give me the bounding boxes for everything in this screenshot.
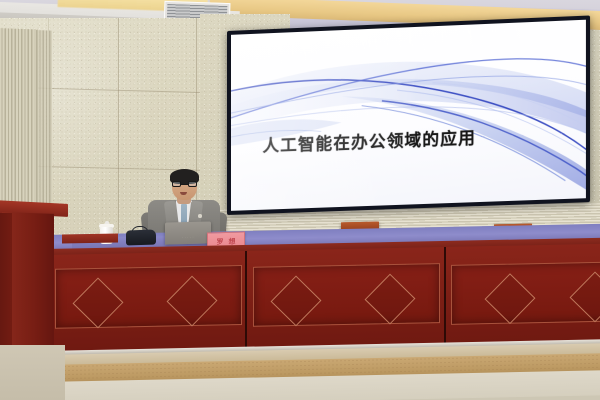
dais-panel-divider <box>245 251 247 357</box>
dais-panel-1 <box>55 265 242 329</box>
dais-panel-2 <box>253 263 440 327</box>
glasses-bridge <box>181 184 188 185</box>
conference-room-photo: 人工智能在办公领域的应用 <box>0 0 600 400</box>
screen-content: 人工智能在办公领域的应用 <box>231 20 586 211</box>
wooden-lectern-side <box>0 213 12 358</box>
wooden-lectern-secondary-top <box>62 234 118 244</box>
dais-panel-divider <box>444 247 446 353</box>
speaker-lapel-pin-icon <box>198 214 202 218</box>
diamond-inlay <box>167 276 218 327</box>
led-display-screen[interactable]: 人工智能在办公领域的应用 <box>227 15 590 215</box>
diamond-inlay <box>73 277 124 328</box>
stone-seam <box>118 18 119 268</box>
glasses-icon <box>172 181 197 187</box>
glasses-lens-right <box>188 181 197 187</box>
dais-panel-3 <box>451 261 600 324</box>
diamond-inlay <box>485 273 536 324</box>
diamond-inlay <box>365 274 416 325</box>
diamond-inlay <box>271 276 322 327</box>
diamond-inlay <box>570 271 600 322</box>
black-bag <box>126 229 156 245</box>
glasses-lens-left <box>172 181 181 187</box>
laptop-logo-icon: · · · · · <box>182 235 194 239</box>
wave-graphic <box>231 20 586 211</box>
silver-laptop[interactable]: · · · · · <box>165 221 211 244</box>
room-floor-left <box>0 345 65 400</box>
